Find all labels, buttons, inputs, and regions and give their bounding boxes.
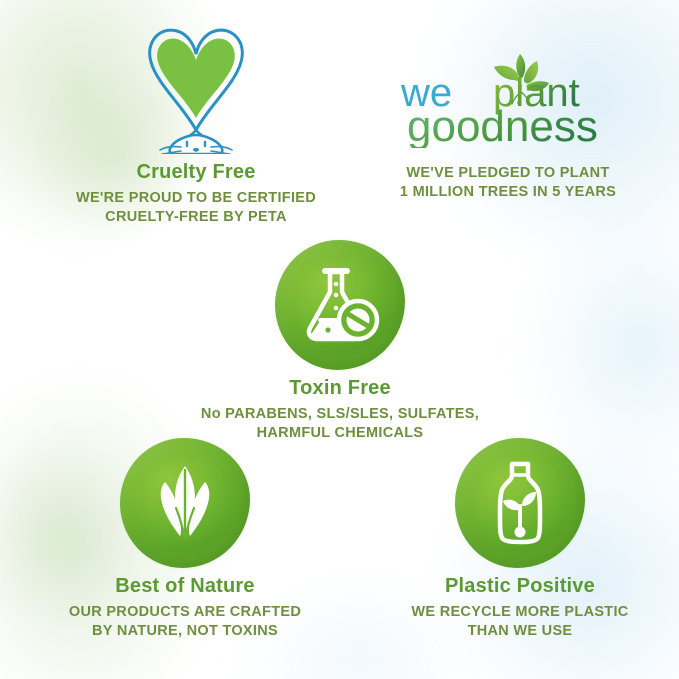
badge-subtitle: OUR PRODUCTS ARE CRAFTED BY NATURE, NOT … bbox=[20, 603, 350, 641]
badge-title: Toxin Free bbox=[176, 377, 504, 400]
badge-icon-wrap bbox=[176, 240, 504, 370]
peta-bunny-heart-icon bbox=[133, 18, 259, 154]
we-plant-goodness-logo: we plant goodness bbox=[352, 40, 664, 152]
badge-we-plant-goodness: we plant goodness WE'VE PLEDGED TO PLANT… bbox=[352, 40, 664, 202]
three-leaves-icon bbox=[143, 462, 227, 544]
flask-no-entry-icon bbox=[298, 264, 382, 346]
badge-title: Best of Nature bbox=[20, 575, 350, 598]
badge-title: Plastic Positive bbox=[370, 575, 670, 598]
bottle-sprout-icon bbox=[480, 460, 560, 546]
badge-icon-wrap bbox=[20, 438, 350, 568]
badge-title: Cruelty Free bbox=[24, 161, 368, 184]
badge-cruelty-free: Cruelty Free WE'RE PROUD TO BE CERTIFIED… bbox=[24, 18, 368, 227]
badge-disc bbox=[275, 240, 405, 370]
badge-best-of-nature: Best of Nature OUR PRODUCTS ARE CRAFTED … bbox=[20, 438, 350, 641]
we-plant-goodness-wordmark: we plant goodness bbox=[393, 40, 623, 148]
logo-word-goodness: goodness bbox=[407, 102, 598, 148]
badge-subtitle: WE'VE PLEDGED TO PLANT 1 MILLION TREES I… bbox=[352, 164, 664, 202]
badge-disc bbox=[455, 438, 585, 568]
infographic-canvas: Cruelty Free WE'RE PROUD TO BE CERTIFIED… bbox=[0, 0, 679, 679]
badge-disc bbox=[120, 438, 250, 568]
badge-toxin-free: Toxin Free No PARABENS, SLS/SLES, SULFAT… bbox=[176, 240, 504, 443]
badge-plastic-positive: Plastic Positive WE RECYCLE MORE PLASTIC… bbox=[370, 438, 670, 641]
badge-subtitle: WE'RE PROUD TO BE CERTIFIED CRUELTY-FREE… bbox=[24, 189, 368, 227]
badge-subtitle: WE RECYCLE MORE PLASTIC THAN WE USE bbox=[370, 603, 670, 641]
badge-icon-wrap bbox=[24, 18, 368, 154]
badge-icon-wrap bbox=[370, 438, 670, 568]
